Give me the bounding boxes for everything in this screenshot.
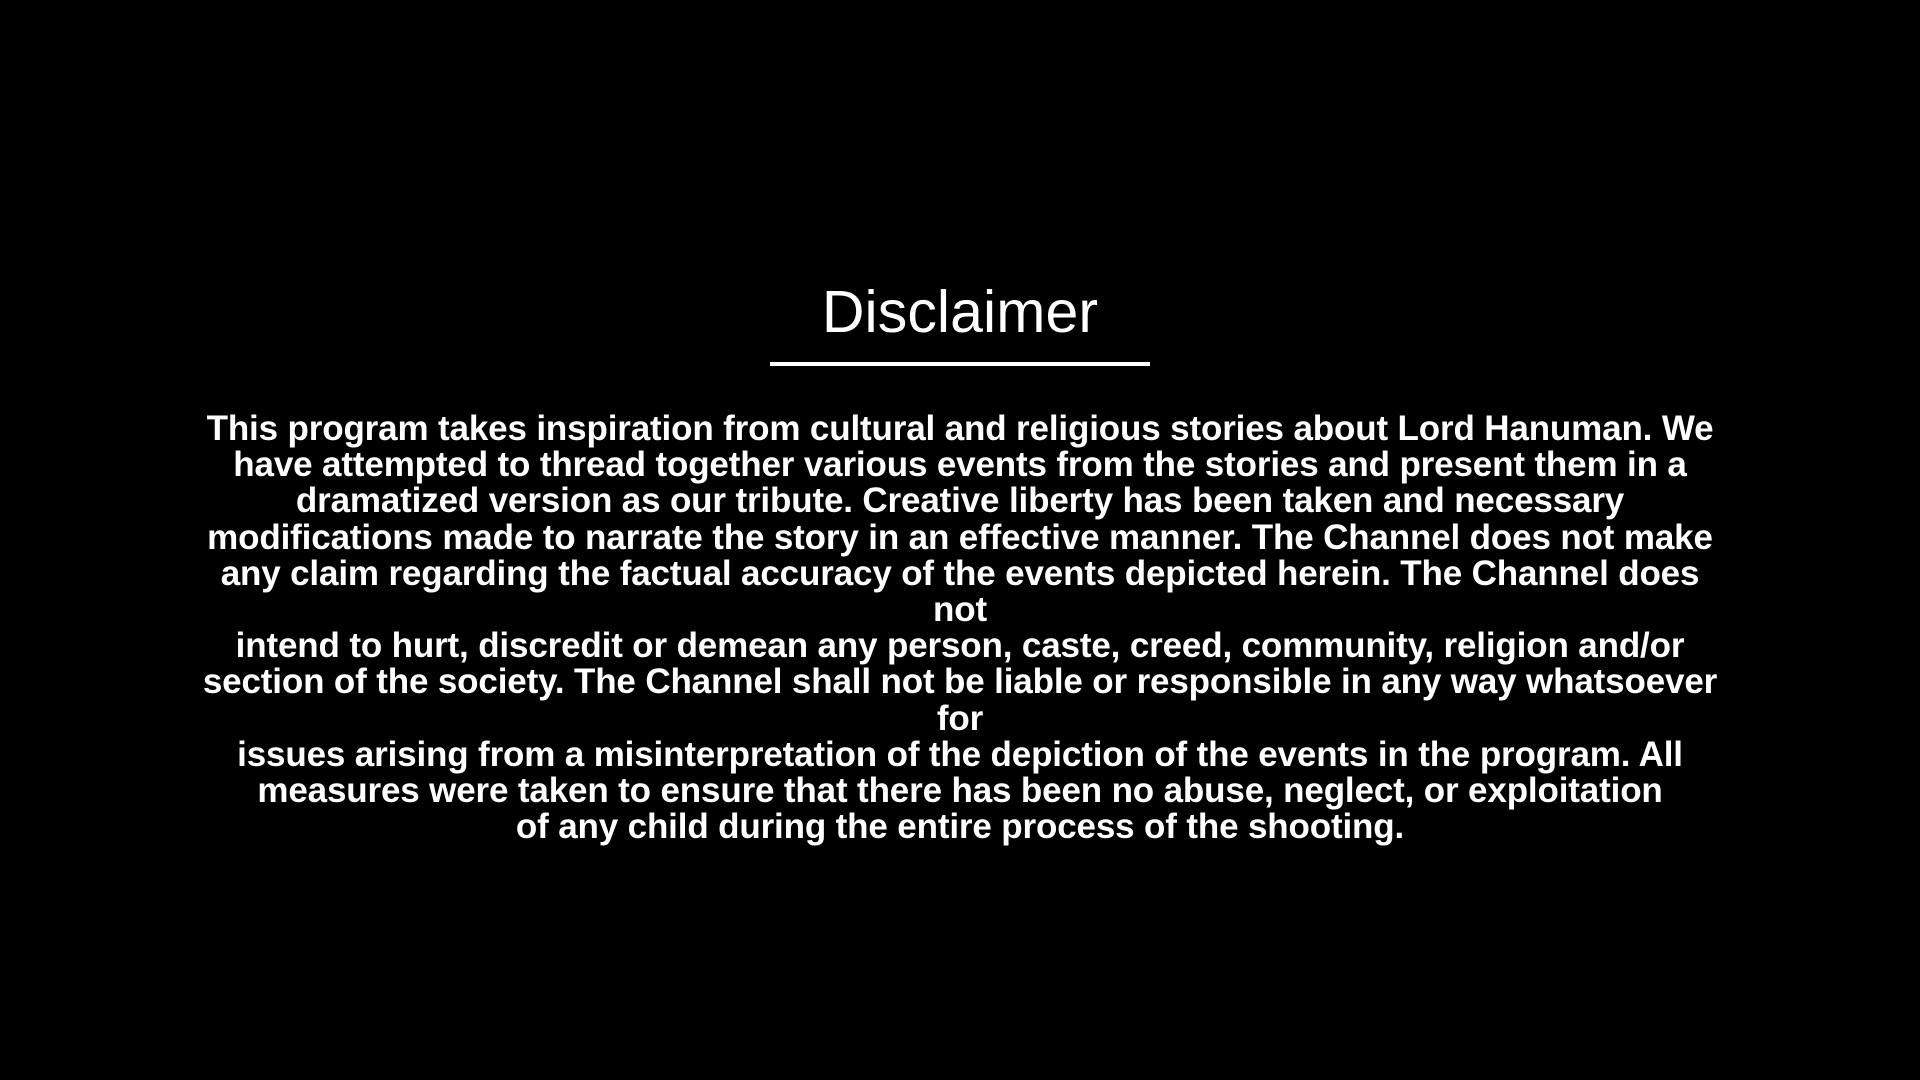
title-underline-rule	[770, 362, 1150, 366]
page-title: Disclaimer	[0, 282, 1920, 344]
disclaimer-paragraph: This program takes inspiration from cult…	[190, 411, 1730, 845]
title-block: Disclaimer	[0, 282, 1920, 366]
disclaimer-body-block: This program takes inspiration from cult…	[190, 411, 1730, 845]
disclaimer-slide: Disclaimer This program takes inspiratio…	[0, 0, 1920, 1080]
